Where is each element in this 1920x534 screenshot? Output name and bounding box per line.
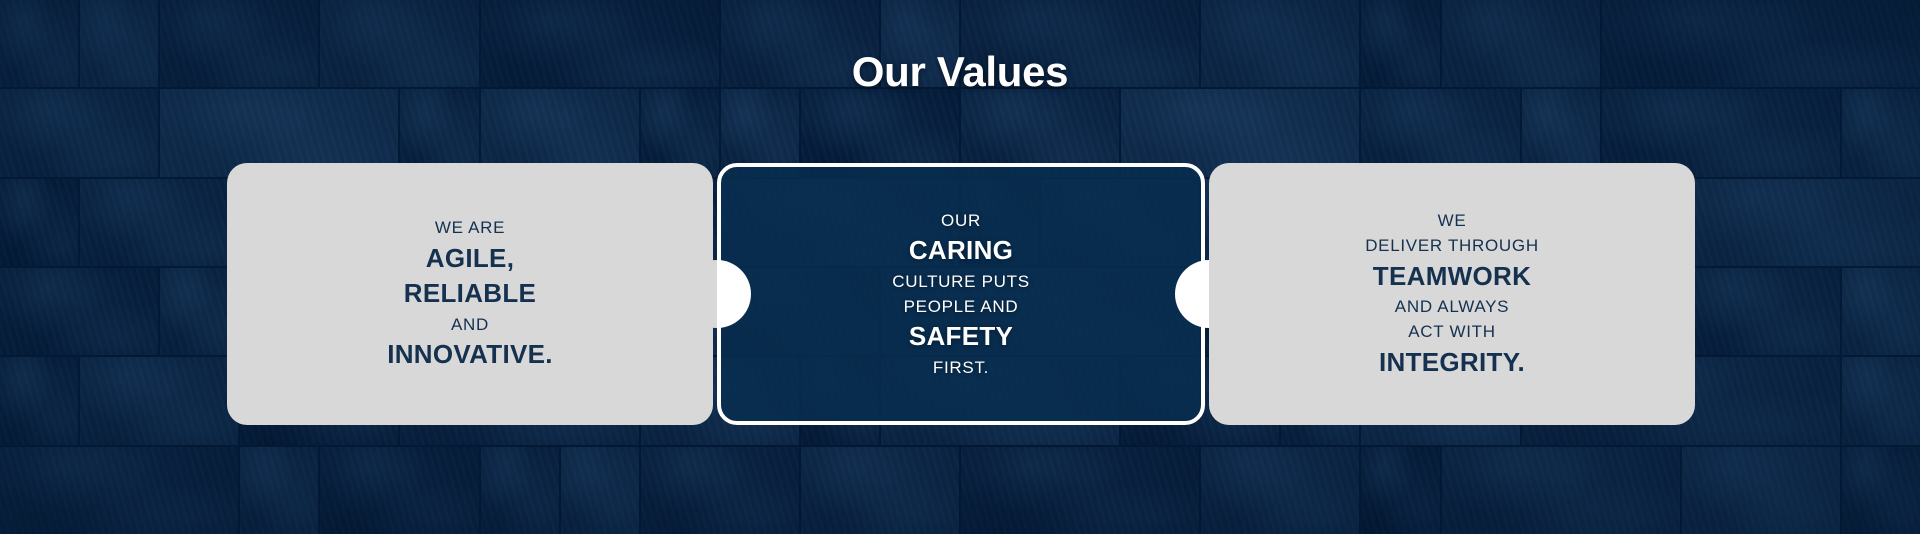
value-line: OUR [892,210,1030,232]
value-card-agile-text: WE ARE AGILE, RELIABLE AND INNOVATIVE. [373,214,567,373]
value-card-teamwork: WE DELIVER THROUGH TEAMWORK AND ALWAYS A… [1209,163,1695,425]
value-card-caring: OUR CARING CULTURE PUTS PEOPLE AND SAFET… [717,163,1205,425]
value-line: AGILE, [387,242,553,275]
connector-half-left [1175,260,1209,328]
value-line: AND [387,314,553,336]
value-line: WE ARE [387,217,553,239]
value-line: CARING [892,234,1030,267]
value-line: WE [1365,210,1539,232]
value-line: INNOVATIVE. [387,338,553,371]
our-values-banner: Our Values WE ARE AGILE, RELIABLE AND IN… [0,0,1920,534]
value-line: CULTURE PUTS [892,271,1030,293]
value-line: ACT WITH [1365,321,1539,343]
connector-half-right [1209,260,1243,328]
value-line: AND ALWAYS [1365,296,1539,318]
value-line: FIRST. [892,357,1030,379]
connector-half-left [683,260,717,328]
value-line: INTEGRITY. [1365,346,1539,379]
value-line: SAFETY [892,320,1030,353]
value-card-caring-text: OUR CARING CULTURE PUTS PEOPLE AND SAFET… [878,207,1044,382]
value-card-agile: WE ARE AGILE, RELIABLE AND INNOVATIVE. [227,163,713,425]
value-line: TEAMWORK [1365,260,1539,293]
puzzle-connector-left-icon [683,260,751,328]
values-card-row: WE ARE AGILE, RELIABLE AND INNOVATIVE. O… [227,163,1695,425]
value-card-teamwork-text: WE DELIVER THROUGH TEAMWORK AND ALWAYS A… [1351,207,1553,381]
puzzle-connector-right-icon [1175,260,1243,328]
value-line: DELIVER THROUGH [1365,235,1539,257]
connector-half-right [717,260,751,328]
value-line: RELIABLE [387,277,553,310]
value-line: PEOPLE AND [892,296,1030,318]
page-title: Our Values [0,48,1920,96]
